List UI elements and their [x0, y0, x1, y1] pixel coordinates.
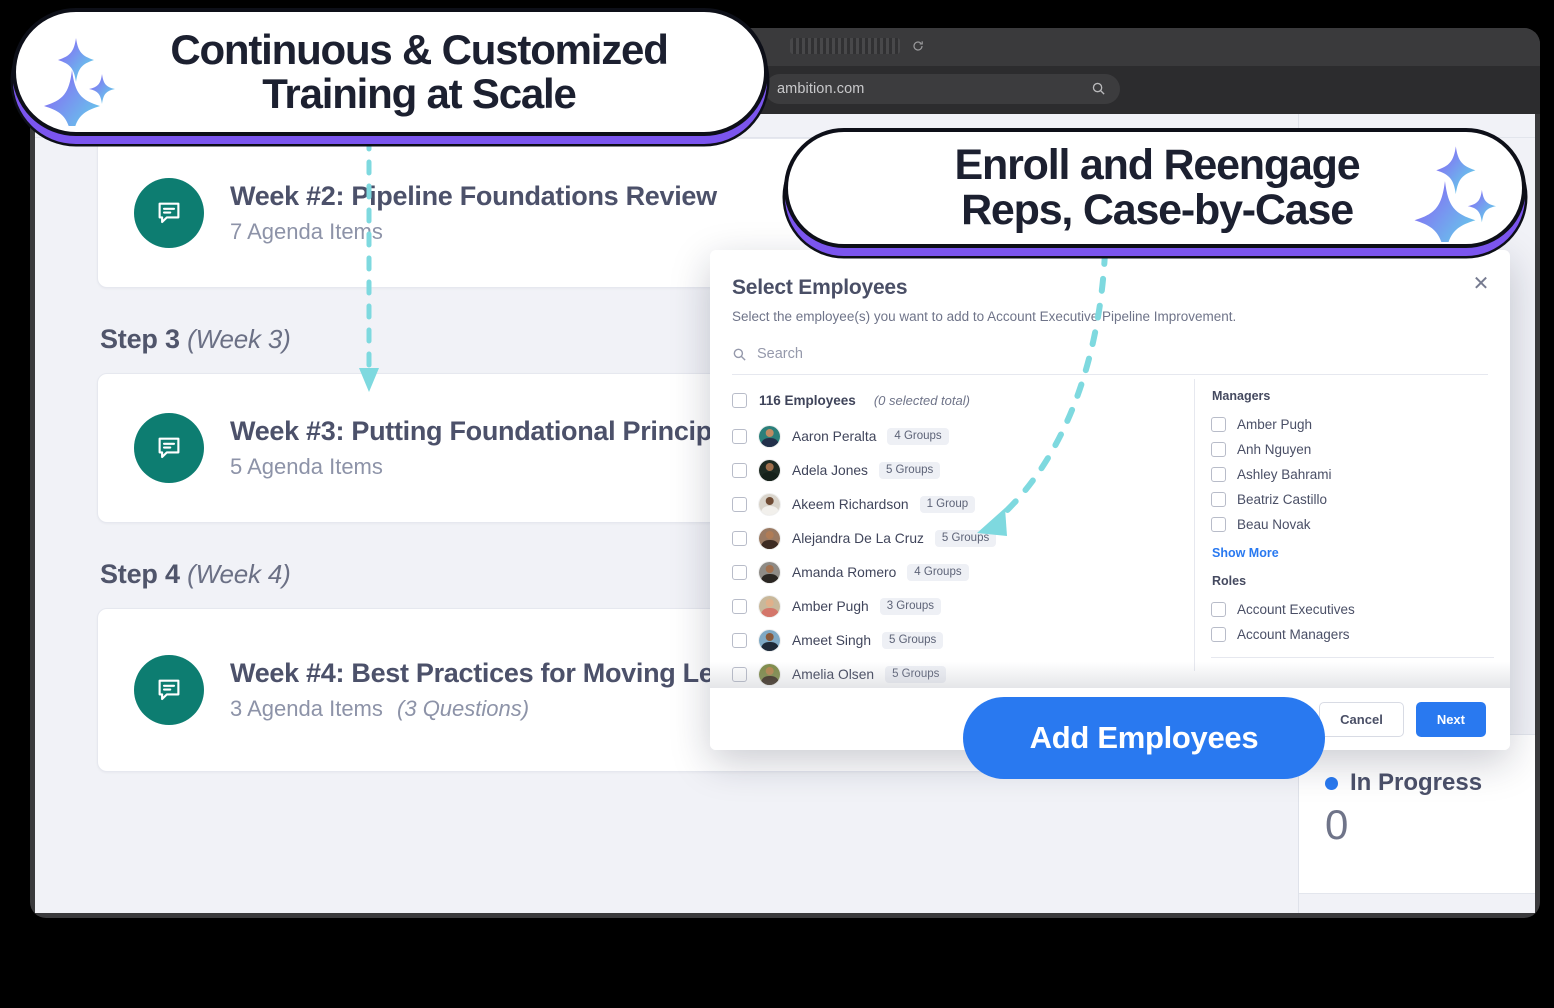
- employee-row[interactable]: Akeem Richardson1 Group: [732, 487, 1194, 521]
- employee-groups-badge: 4 Groups: [907, 564, 968, 581]
- role-label: Account Managers: [1237, 627, 1350, 642]
- employee-name: Amelia Olsen: [792, 667, 874, 682]
- employee-count-label: 116 Employees: [759, 393, 856, 408]
- status-dot-icon: [1325, 777, 1338, 790]
- employee-groups-badge: 3 Groups: [880, 598, 941, 615]
- role-filter-row[interactable]: Account Executives: [1211, 597, 1510, 622]
- step-label: Step 3: [100, 324, 180, 354]
- step-week: (Week 4): [187, 559, 290, 589]
- employee-name: Adela Jones: [792, 463, 868, 478]
- callout-enroll-line2: Reps, Case-by-Case: [888, 188, 1426, 233]
- callout-training-text: Continuous & Customized Training at Scal…: [100, 28, 738, 116]
- add-employees-button[interactable]: Add Employees: [963, 697, 1325, 779]
- search-icon: [732, 347, 747, 362]
- week-card-subtitle: 3 Agenda Items: [230, 696, 383, 721]
- employee-groups-badge: 5 Groups: [882, 632, 943, 649]
- manager-checkbox[interactable]: [1211, 517, 1226, 532]
- callout-enroll-line1: Enroll and Reengage: [888, 143, 1426, 188]
- avatar: [758, 663, 781, 686]
- employee-row[interactable]: Amber Pugh3 Groups: [732, 589, 1194, 623]
- close-icon[interactable]: ✕: [1470, 274, 1492, 296]
- select-all-row[interactable]: 116 Employees (0 selected total): [732, 387, 1194, 414]
- employee-checkbox[interactable]: [732, 565, 747, 580]
- employee-checkbox[interactable]: [732, 531, 747, 546]
- avatar: [758, 595, 781, 618]
- modal-body: 116 Employees (0 selected total) Aaron P…: [710, 375, 1510, 671]
- employee-name: Akeem Richardson: [792, 497, 909, 512]
- manager-checkbox[interactable]: [1211, 442, 1226, 457]
- chat-bubble-icon: [134, 413, 204, 483]
- manager-label: Beatriz Castillo: [1237, 492, 1327, 507]
- role-label: Account Executives: [1237, 602, 1355, 617]
- address-bar-url: ambition.com: [777, 81, 864, 97]
- manager-filter-row[interactable]: Beau Novak: [1211, 512, 1510, 537]
- manager-checkbox[interactable]: [1211, 492, 1226, 507]
- employee-row[interactable]: Aaron Peralta4 Groups: [732, 419, 1194, 453]
- in-progress-stat: In Progress 0: [1299, 734, 1535, 894]
- manager-filter-row[interactable]: Ashley Bahrami: [1211, 462, 1510, 487]
- add-employees-label: Add Employees: [1030, 720, 1259, 756]
- employee-groups-badge: 4 Groups: [887, 428, 948, 445]
- roles-title: Roles: [1212, 574, 1510, 588]
- role-checkbox[interactable]: [1211, 602, 1226, 617]
- screenshot-root: ambition.com: [0, 0, 1554, 1008]
- employee-row[interactable]: Amanda Romero4 Groups: [732, 555, 1194, 589]
- role-checkbox[interactable]: [1211, 627, 1226, 642]
- employee-name: Alejandra De La Cruz: [792, 531, 924, 546]
- next-button[interactable]: Next: [1416, 702, 1486, 737]
- selected-count-label: (0 selected total): [874, 393, 970, 408]
- callout-enroll-text: Enroll and Reengage Reps, Case-by-Case: [888, 143, 1426, 233]
- employee-row[interactable]: Amelia Olsen5 Groups: [732, 657, 1194, 691]
- employee-checkbox[interactable]: [732, 463, 747, 478]
- in-progress-value: 0: [1325, 801, 1535, 849]
- managers-title: Managers: [1212, 389, 1510, 403]
- avatar: [758, 561, 781, 584]
- manager-label: Beau Novak: [1237, 517, 1311, 532]
- role-filter-row[interactable]: Account Managers: [1211, 622, 1510, 647]
- manager-label: Anh Nguyen: [1237, 442, 1311, 457]
- employee-name: Amber Pugh: [792, 599, 869, 614]
- employee-list: 116 Employees (0 selected total) Aaron P…: [710, 375, 1194, 671]
- employee-row[interactable]: Adela Jones5 Groups: [732, 453, 1194, 487]
- manager-filter-row[interactable]: Anh Nguyen: [1211, 437, 1510, 462]
- employee-row[interactable]: Alejandra De La Cruz5 Groups: [732, 521, 1194, 555]
- callout-training: Continuous & Customized Training at Scal…: [12, 8, 768, 136]
- show-more-link[interactable]: Show More: [1212, 546, 1510, 560]
- chat-bubble-icon: [134, 178, 204, 248]
- employee-checkbox[interactable]: [732, 633, 747, 648]
- employee-name: Ameet Singh: [792, 633, 871, 648]
- employee-groups-badge: 5 Groups: [879, 462, 940, 479]
- manager-label: Ashley Bahrami: [1237, 467, 1332, 482]
- magnifier-icon[interactable]: [1091, 81, 1106, 96]
- cancel-button[interactable]: Cancel: [1319, 702, 1404, 737]
- select-employees-modal: Select Employees Select the employee(s) …: [710, 250, 1510, 750]
- filters-panel: Managers Amber PughAnh NguyenAshley Bahr…: [1195, 375, 1510, 671]
- avatar: [758, 425, 781, 448]
- employee-groups-badge: 1 Group: [920, 496, 976, 513]
- chat-bubble-icon: [134, 655, 204, 725]
- browser-tab[interactable]: [790, 38, 900, 54]
- manager-filter-row[interactable]: Amber Pugh: [1211, 412, 1510, 437]
- manager-checkbox[interactable]: [1211, 467, 1226, 482]
- manager-filter-row[interactable]: Beatriz Castillo: [1211, 487, 1510, 512]
- modal-subtitle: Select the employee(s) you want to add t…: [732, 309, 1480, 324]
- callout-training-line2: Training at Scale: [100, 72, 738, 116]
- avatar: [758, 629, 781, 652]
- week-card-subtitle: 5 Agenda Items: [230, 454, 383, 479]
- employee-groups-badge: 5 Groups: [935, 530, 996, 547]
- manager-checkbox[interactable]: [1211, 417, 1226, 432]
- manager-label: Amber Pugh: [1237, 417, 1312, 432]
- modal-search-row[interactable]: [732, 346, 1488, 375]
- week-card-subtitle: 7 Agenda Items: [230, 219, 383, 244]
- avatar: [758, 493, 781, 516]
- avatar: [758, 459, 781, 482]
- avatar: [758, 527, 781, 550]
- employee-checkbox[interactable]: [732, 497, 747, 512]
- callout-enroll: Enroll and Reengage Reps, Case-by-Case: [784, 128, 1526, 248]
- modal-title: Select Employees: [732, 276, 1480, 300]
- callout-training-line1: Continuous & Customized: [100, 28, 738, 72]
- employee-name: Aaron Peralta: [792, 429, 876, 444]
- step-week: (Week 3): [187, 324, 290, 354]
- in-progress-label: In Progress: [1350, 769, 1482, 797]
- select-all-checkbox[interactable]: [732, 393, 747, 408]
- refresh-icon[interactable]: [912, 40, 924, 52]
- week-card-questions: (3 Questions): [397, 696, 529, 721]
- address-bar[interactable]: ambition.com: [765, 74, 1120, 104]
- employee-checkbox[interactable]: [732, 667, 747, 682]
- employee-checkbox[interactable]: [732, 599, 747, 614]
- step-label: Step 4: [100, 559, 180, 589]
- employee-groups-badge: 5 Groups: [885, 666, 946, 683]
- modal-header: Select Employees Select the employee(s) …: [710, 250, 1510, 324]
- employee-row[interactable]: Ameet Singh5 Groups: [732, 623, 1194, 657]
- search-input[interactable]: [757, 346, 1077, 362]
- employee-checkbox[interactable]: [732, 429, 747, 444]
- filters-separator: [1211, 657, 1494, 658]
- employee-name: Amanda Romero: [792, 565, 896, 580]
